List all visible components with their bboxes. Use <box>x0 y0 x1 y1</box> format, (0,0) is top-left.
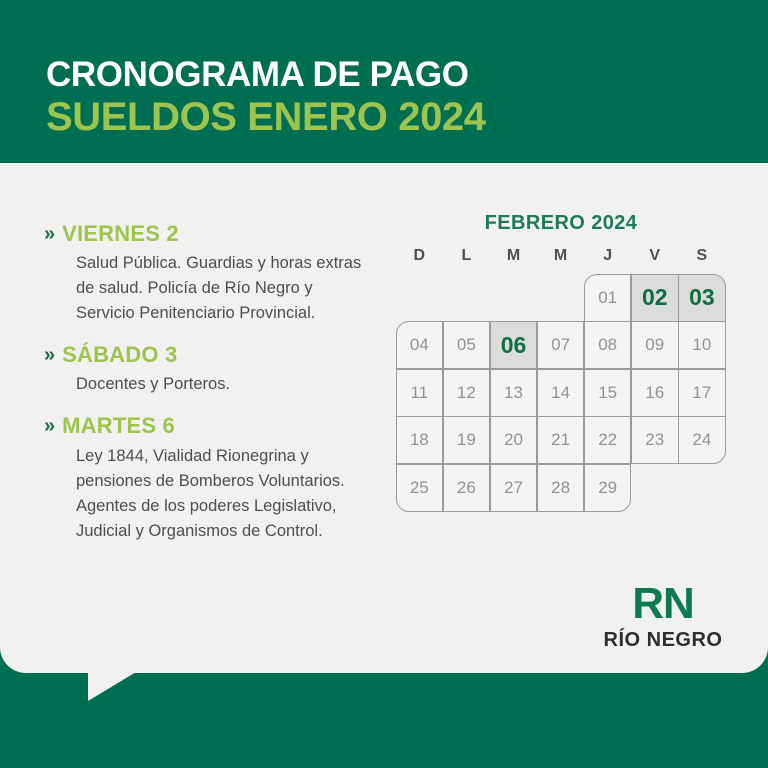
double-chevron-right-icon: » <box>44 345 53 365</box>
calendar-day-cell[interactable]: 10 <box>678 321 726 369</box>
calendar-day-cell[interactable]: 13 <box>490 369 538 417</box>
header-title-group: CRONOGRAMA DE PAGO SUELDOS ENERO 2024 <box>46 55 486 139</box>
calendar-day-cell[interactable]: 01 <box>584 274 632 322</box>
calendar-day-cell[interactable]: 06 <box>490 321 538 369</box>
schedule-entry-header: » MARTES 6 <box>44 414 374 438</box>
calendar-day-cell[interactable]: 21 <box>537 416 585 464</box>
calendar-cell-empty <box>443 274 491 322</box>
schedule-entry-header: » SÁBADO 3 <box>44 343 374 367</box>
logo-initials: RN <box>594 582 732 626</box>
calendar-cell-empty <box>396 274 444 322</box>
schedule-entry-body: Ley 1844, Vialidad Rionegrina y pensione… <box>76 444 368 544</box>
poster-header: CRONOGRAMA DE PAGO SUELDOS ENERO 2024 <box>0 0 768 163</box>
calendar-cell-empty <box>537 274 585 322</box>
calendar-day-cell[interactable]: 16 <box>631 369 679 417</box>
calendar-day-cell[interactable]: 07 <box>537 321 585 369</box>
calendar-day-cell[interactable]: 27 <box>490 464 538 512</box>
calendar-weekday-4: J <box>584 247 631 265</box>
calendar-weekday-6: S <box>679 247 726 265</box>
calendar-day-cell[interactable]: 20 <box>490 416 538 464</box>
calendar-weekday-2: M <box>490 247 537 265</box>
schedule-entry-body: Docentes y Porteros. <box>76 372 368 397</box>
schedule-entry-header: » VIERNES 2 <box>44 222 374 246</box>
calendar: FEBRERO 2024 DLMMJVS 0102030405060708091… <box>396 212 726 512</box>
calendar-day-cell[interactable]: 04 <box>396 321 444 369</box>
double-chevron-right-icon: » <box>44 224 53 244</box>
calendar-day-cell[interactable]: 09 <box>631 321 679 369</box>
calendar-day-cell[interactable]: 17 <box>678 369 726 417</box>
calendar-cell-empty <box>631 464 679 512</box>
calendar-day-cell[interactable]: 18 <box>396 416 444 464</box>
list-item: » MARTES 6 Ley 1844, Vialidad Rionegrina… <box>44 414 374 543</box>
schedule-entry-title: SÁBADO 3 <box>62 343 177 367</box>
rio-negro-logo: RN RÍO NEGRO <box>594 582 732 652</box>
calendar-day-cell[interactable]: 02 <box>631 274 679 322</box>
calendar-day-cell[interactable]: 14 <box>537 369 585 417</box>
calendar-day-cell[interactable]: 29 <box>584 464 632 512</box>
calendar-weekday-0: D <box>396 247 443 265</box>
calendar-day-cell[interactable]: 03 <box>678 274 726 322</box>
schedule-entry-title: VIERNES 2 <box>62 222 179 246</box>
list-item: » VIERNES 2 Salud Pública. Guardias y ho… <box>44 222 374 326</box>
calendar-cell-empty <box>490 274 538 322</box>
calendar-day-cell[interactable]: 22 <box>584 416 632 464</box>
calendar-day-cell[interactable]: 24 <box>678 416 726 464</box>
payment-schedule-poster: CRONOGRAMA DE PAGO SUELDOS ENERO 2024 » … <box>0 0 768 768</box>
calendar-cell-empty <box>678 464 726 512</box>
calendar-weekday-3: M <box>537 247 584 265</box>
calendar-day-cell[interactable]: 25 <box>396 464 444 512</box>
calendar-day-cell[interactable]: 19 <box>443 416 491 464</box>
logo-name: RÍO NEGRO <box>594 628 732 652</box>
calendar-weekday-header-row: DLMMJVS <box>396 247 726 265</box>
calendar-day-cell[interactable]: 15 <box>584 369 632 417</box>
list-item: » SÁBADO 3 Docentes y Porteros. <box>44 343 374 397</box>
page-title: CRONOGRAMA DE PAGO <box>46 55 486 95</box>
schedule-list: » VIERNES 2 Salud Pública. Guardias y ho… <box>44 222 374 561</box>
schedule-entry-body: Salud Pública. Guardias y horas extras d… <box>76 251 368 326</box>
calendar-day-cell[interactable]: 23 <box>631 416 679 464</box>
calendar-grid: 0102030405060708091011121314151617181920… <box>396 274 726 512</box>
calendar-day-cell[interactable]: 08 <box>584 321 632 369</box>
page-subtitle: SUELDOS ENERO 2024 <box>46 95 486 139</box>
calendar-month-title: FEBRERO 2024 <box>396 212 726 235</box>
double-chevron-right-icon: » <box>44 416 53 436</box>
card-tail-notch <box>88 672 136 701</box>
calendar-day-cell[interactable]: 05 <box>443 321 491 369</box>
calendar-day-cell[interactable]: 28 <box>537 464 585 512</box>
calendar-weekday-1: L <box>443 247 490 265</box>
calendar-day-cell[interactable]: 12 <box>443 369 491 417</box>
calendar-weekday-5: V <box>631 247 678 265</box>
schedule-entry-title: MARTES 6 <box>62 414 175 438</box>
calendar-day-cell[interactable]: 26 <box>443 464 491 512</box>
calendar-day-cell[interactable]: 11 <box>396 369 444 417</box>
